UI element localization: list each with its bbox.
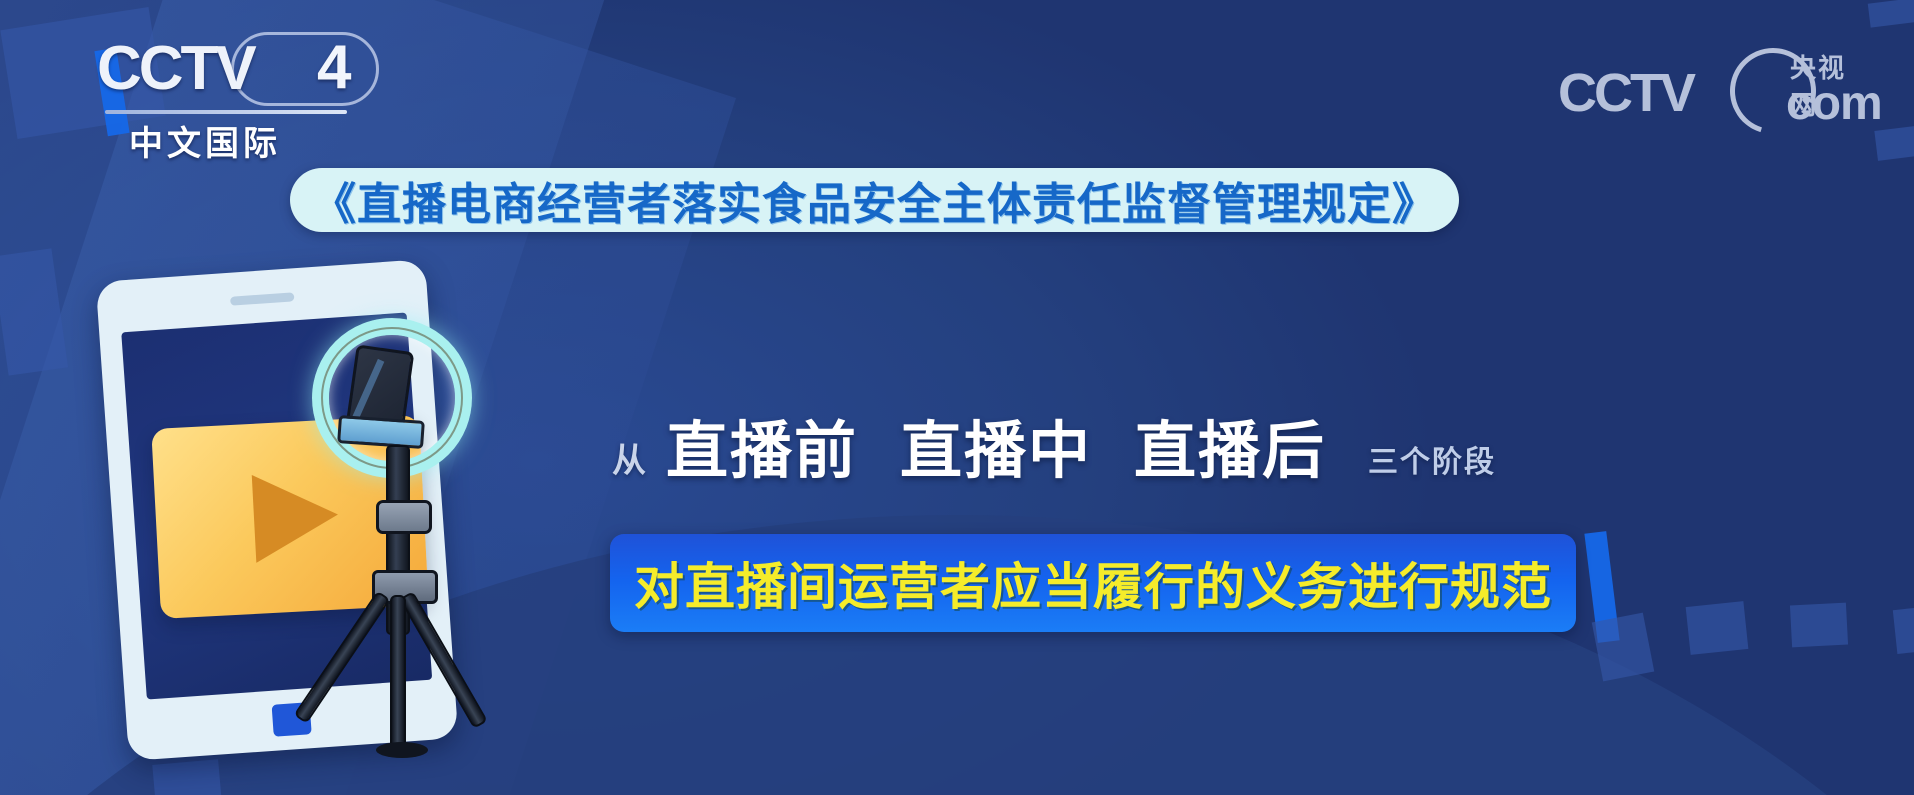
- stages-suffix: 三个阶段: [1368, 437, 1496, 481]
- channel-name-cn: 中文国际: [129, 116, 281, 165]
- cctv4-channel-logo: CCTV 4 中文国际: [95, 34, 385, 144]
- cctv-com-logo: CCTV 央视网 com: [1558, 42, 1858, 134]
- highlight-banner: 对直播间运营者应当履行的义务进行规范: [610, 534, 1576, 632]
- stage-item-before: 直播前: [666, 400, 858, 490]
- stage-item-after: 直播后: [1134, 400, 1326, 490]
- channel-number: 4: [317, 37, 351, 99]
- decor-square: [1790, 603, 1848, 648]
- decor-square: [1874, 125, 1914, 161]
- stages-line: 从 直播前 直播中 直播后 三个阶段: [612, 400, 1496, 490]
- tripod-foot: [376, 742, 428, 758]
- stage-item-during: 直播中: [900, 400, 1092, 490]
- tripod-adjust-knob: [376, 500, 432, 534]
- decor-square: [1893, 606, 1914, 654]
- decor-square: [1592, 613, 1654, 682]
- play-icon: [252, 471, 340, 563]
- decor-square: [1686, 601, 1749, 655]
- headline-banner: 《直播电商经营者落实食品安全主体责任监督管理规定》: [290, 168, 1459, 232]
- cctv-wordmark: CCTV: [97, 38, 254, 100]
- cctv-com-tld: com: [1786, 80, 1882, 128]
- livestream-illustration: [100, 270, 660, 795]
- phone-holder-clamp: [337, 415, 425, 449]
- cctv-com-wordmark: CCTV: [1558, 66, 1693, 120]
- highlight-text: 对直播间运营者应当履行的义务进行规范: [634, 547, 1552, 619]
- logo-underline: [105, 110, 347, 114]
- broadcast-graphic: CCTV 4 中文国际 CCTV 央视网 com 《直播电商经营者落实食品安全主…: [0, 0, 1914, 795]
- tablet-speaker: [230, 292, 294, 305]
- page-title: 《直播电商经营者落实食品安全主体责任监督管理规定》: [312, 168, 1437, 232]
- tripod-leg: [390, 595, 406, 755]
